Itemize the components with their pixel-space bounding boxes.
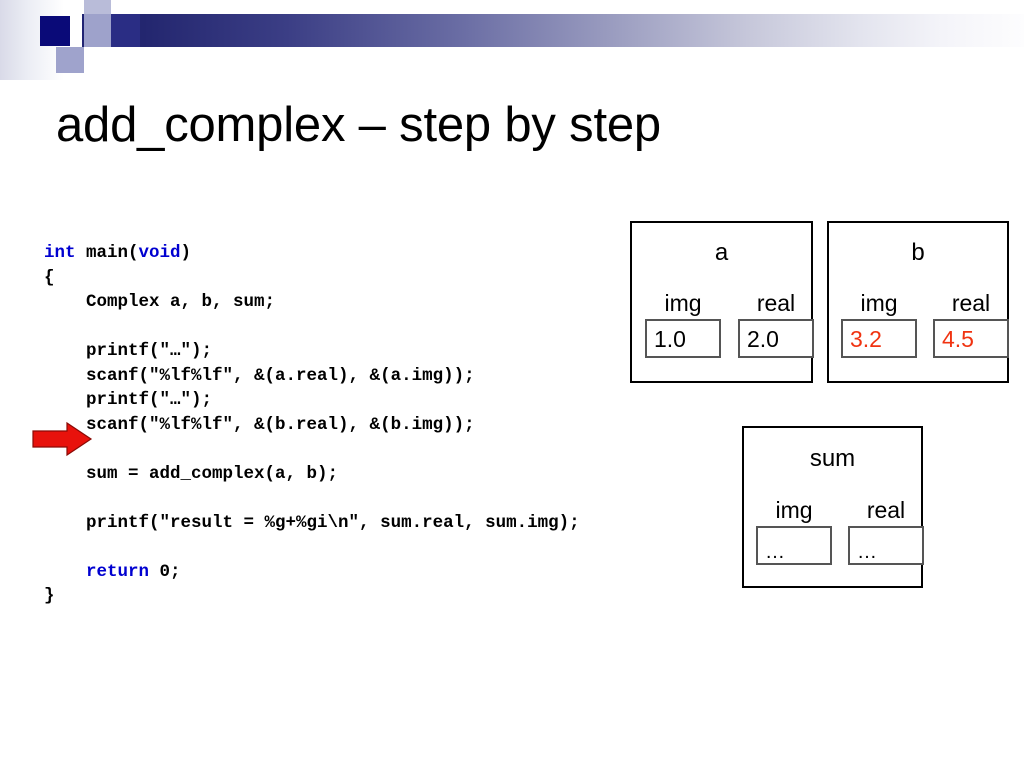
code-line: sum = add_complex(a, b);: [44, 462, 580, 487]
field-b-real: real 4.5: [933, 289, 1009, 358]
field-a-real: real 2.0: [738, 289, 814, 358]
decoration-square-dark-right: [111, 14, 140, 47]
variable-box-b: b img 3.2 real 4.5: [827, 221, 1009, 383]
code-line: {: [44, 266, 580, 291]
code-text: {: [44, 268, 55, 288]
field-label: real: [848, 496, 924, 524]
decoration-square-light-mid: [84, 14, 111, 47]
code-text: printf("…");: [86, 341, 212, 361]
code-text: }: [44, 586, 55, 606]
field-sum-real: real …: [848, 496, 924, 565]
field-label: img: [645, 289, 721, 317]
right-arrow-icon: [31, 421, 93, 457]
code-text: [44, 537, 55, 557]
code-keyword: void: [139, 243, 181, 263]
variable-name-a: a: [632, 239, 811, 267]
code-line: [44, 437, 580, 462]
code-line: scanf("%lf%lf", &(b.real), &(b.img));: [44, 413, 580, 438]
variable-box-a: a img 1.0 real 2.0: [630, 221, 813, 383]
decoration-square-navy: [40, 16, 70, 46]
variable-name-sum: sum: [744, 445, 921, 473]
code-line: printf("result = %g+%gi\n", sum.real, su…: [44, 511, 580, 536]
code-line: printf("…");: [44, 388, 580, 413]
field-value: …: [756, 526, 832, 565]
code-keyword: return: [86, 562, 149, 582]
code-line: printf("…");: [44, 339, 580, 364]
field-label: img: [756, 496, 832, 524]
field-label: real: [738, 289, 814, 317]
code-line: int main(void): [44, 241, 580, 266]
code-text: Complex a, b, sum;: [86, 292, 275, 312]
code-text: sum = add_complex(a, b);: [86, 464, 338, 484]
code-line: Complex a, b, sum;: [44, 290, 580, 315]
slide-header-decoration: [0, 0, 1024, 80]
code-line: return 0;: [44, 560, 580, 585]
variable-box-sum: sum img … real …: [742, 426, 923, 588]
field-value: …: [848, 526, 924, 565]
page-title: add_complex – step by step: [56, 93, 968, 157]
code-text: main(: [76, 243, 139, 263]
field-b-img: img 3.2: [841, 289, 917, 358]
code-text: scanf("%lf%lf", &(a.real), &(a.img));: [86, 366, 475, 386]
code-listing: int main(void){ Complex a, b, sum; print…: [44, 241, 580, 609]
code-line: }: [44, 584, 580, 609]
field-label: real: [933, 289, 1009, 317]
decoration-square-light-top: [84, 0, 111, 14]
code-text: scanf("%lf%lf", &(b.real), &(b.img));: [86, 415, 475, 435]
header-gradient-bar: [0, 14, 1024, 47]
code-text: printf("result = %g+%gi\n", sum.real, su…: [86, 513, 580, 533]
code-text: [44, 488, 55, 508]
code-text: 0;: [149, 562, 181, 582]
field-value: 1.0: [645, 319, 721, 358]
code-text: [44, 317, 55, 337]
code-text: ): [181, 243, 192, 263]
code-keyword: int: [44, 243, 76, 263]
code-text: printf("…");: [86, 390, 212, 410]
field-value: 2.0: [738, 319, 814, 358]
variable-name-b: b: [829, 239, 1007, 267]
decoration-square-light-bottom: [56, 47, 84, 73]
field-label: img: [841, 289, 917, 317]
code-line: scanf("%lf%lf", &(a.real), &(a.img));: [44, 364, 580, 389]
code-line: [44, 535, 580, 560]
field-a-img: img 1.0: [645, 289, 721, 358]
code-line: [44, 486, 580, 511]
field-sum-img: img …: [756, 496, 832, 565]
code-line: [44, 315, 580, 340]
field-value: 3.2: [841, 319, 917, 358]
field-value: 4.5: [933, 319, 1009, 358]
